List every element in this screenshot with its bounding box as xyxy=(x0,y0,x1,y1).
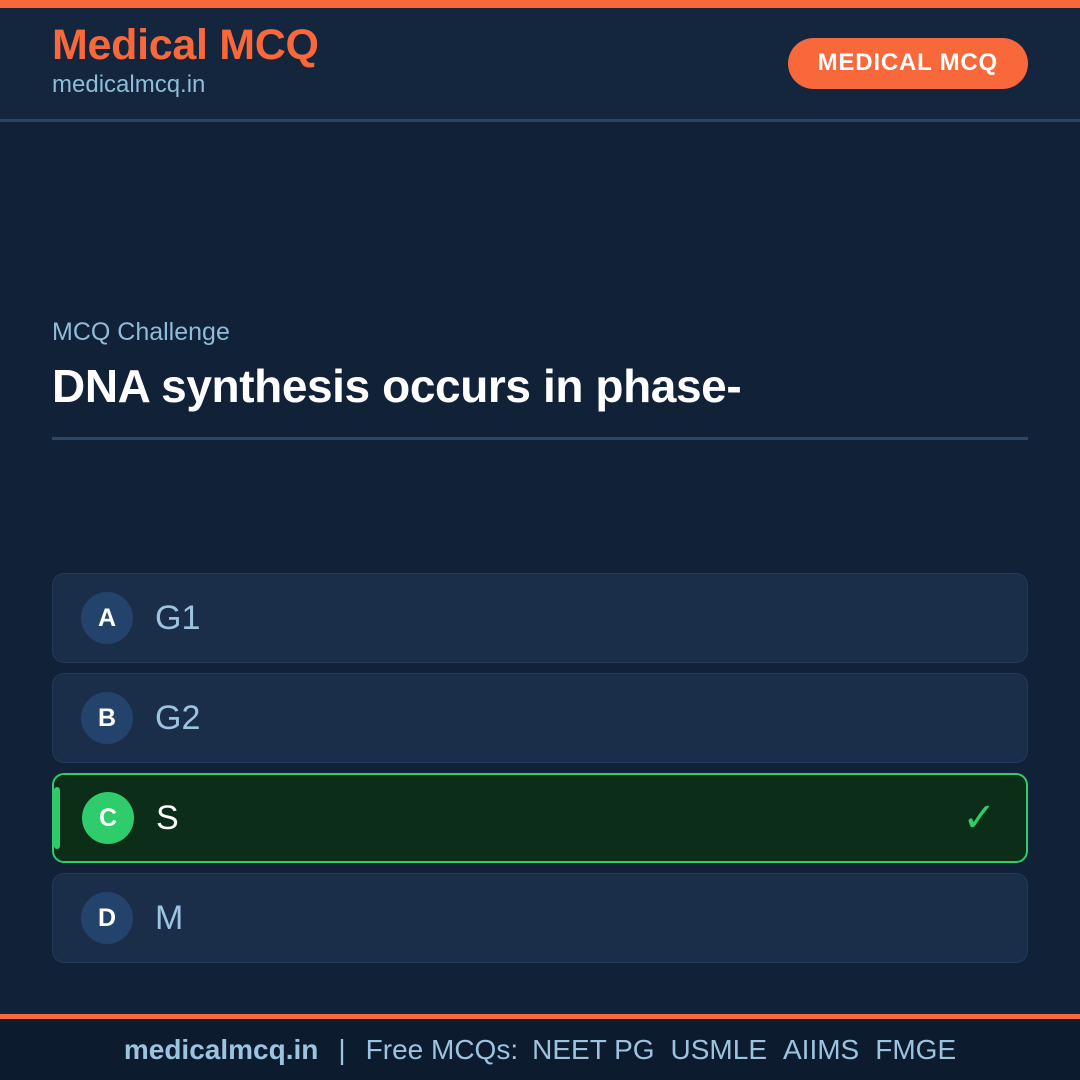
option-label: M xyxy=(155,901,183,935)
brand: Medical MCQ medicalmcq.in xyxy=(52,23,319,101)
option-label: G2 xyxy=(155,701,200,735)
main-content: MCQ Challenge DNA synthesis occurs in ph… xyxy=(0,122,1080,1014)
option-d[interactable]: D M xyxy=(52,873,1028,963)
option-letter: C xyxy=(82,792,134,844)
correct-accent-bar xyxy=(54,787,60,849)
brand-title: Medical MCQ xyxy=(52,23,319,69)
option-letter: D xyxy=(81,892,133,944)
question-eyebrow: MCQ Challenge xyxy=(52,320,1028,345)
question-divider xyxy=(52,437,1028,440)
option-b[interactable]: B G2 xyxy=(52,673,1028,763)
brand-subtitle: medicalmcq.in xyxy=(52,70,319,100)
top-accent-bar xyxy=(0,0,1080,8)
footer-exam-fmge: FMGE xyxy=(875,1036,956,1064)
footer-exam-aiims: AIIMS xyxy=(783,1036,859,1064)
option-label: S xyxy=(156,801,179,835)
mcq-card: Medical MCQ medicalmcq.in MEDICAL MCQ MC… xyxy=(0,0,1080,1080)
footer-separator: | xyxy=(332,1036,351,1064)
question-text: DNA synthesis occurs in phase- xyxy=(52,361,1028,413)
header-badge: MEDICAL MCQ xyxy=(788,38,1028,89)
footer: medicalmcq.in | Free MCQs: NEET PG USMLE… xyxy=(0,1014,1080,1080)
footer-exam-usmle: USMLE xyxy=(671,1036,767,1064)
footer-site: medicalmcq.in xyxy=(124,1036,319,1064)
footer-exam-list: NEET PG USMLE AIIMS FMGE xyxy=(532,1036,956,1064)
check-icon: ✓ xyxy=(962,798,996,838)
options-list: A G1 B G2 C S ✓ D M xyxy=(52,573,1028,963)
question-block: MCQ Challenge DNA synthesis occurs in ph… xyxy=(52,320,1028,440)
option-letter: B xyxy=(81,692,133,744)
footer-content: medicalmcq.in | Free MCQs: NEET PG USMLE… xyxy=(124,1036,956,1064)
option-a[interactable]: A G1 xyxy=(52,573,1028,663)
option-label: G1 xyxy=(155,601,200,635)
footer-exam-neet-pg: NEET PG xyxy=(532,1036,654,1064)
option-c[interactable]: C S ✓ xyxy=(52,773,1028,863)
header: Medical MCQ medicalmcq.in MEDICAL MCQ xyxy=(0,8,1080,122)
option-letter: A xyxy=(81,592,133,644)
footer-label: Free MCQs: xyxy=(366,1036,518,1064)
